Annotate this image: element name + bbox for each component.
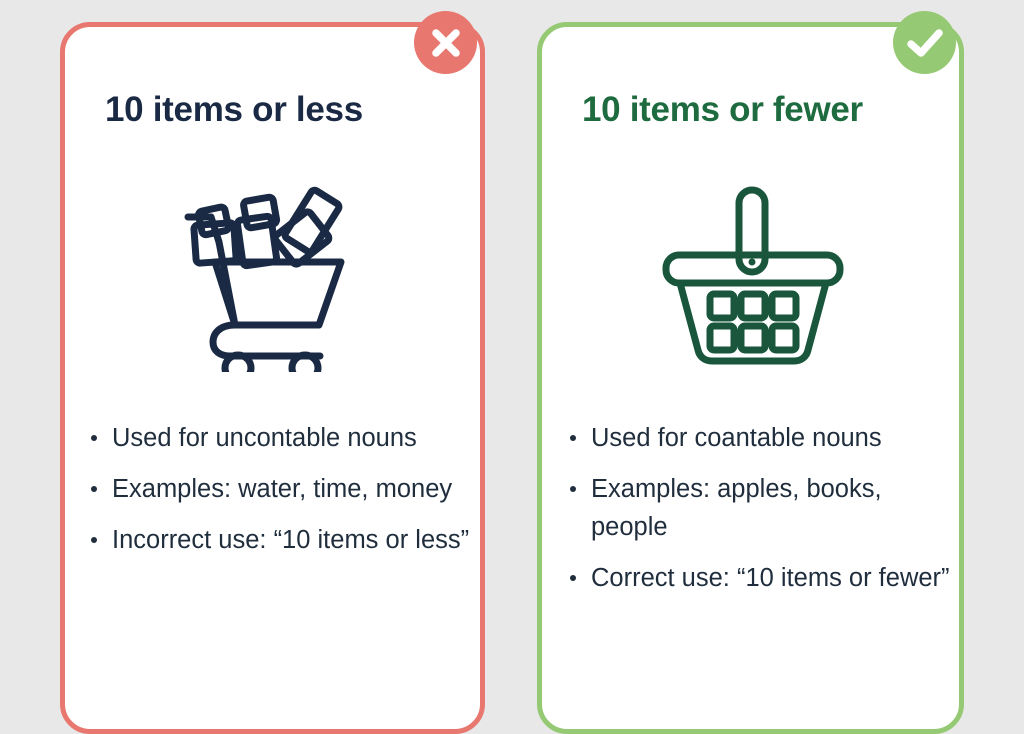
cross-icon bbox=[414, 11, 477, 74]
bullet-dot-icon bbox=[91, 486, 97, 492]
card-correct-title: 10 items or fewer bbox=[582, 90, 863, 130]
shopping-basket-icon bbox=[653, 182, 853, 372]
list-item-text: Incorrect use: “10 items or less” bbox=[112, 526, 469, 554]
shopping-cart-icon bbox=[183, 182, 363, 372]
list-item-text: Examples: water, time, money bbox=[112, 475, 452, 503]
list-item: Examples: apples, books, people bbox=[568, 470, 958, 546]
list-item: Examples: water, time, money bbox=[89, 470, 479, 508]
bullet-dot-icon bbox=[91, 435, 97, 441]
list-item: Incorrect use: “10 items or less” bbox=[89, 521, 479, 559]
list-item-text: Used for uncontable nouns bbox=[112, 424, 417, 452]
list-item: Correct use: “10 items or fewer” bbox=[568, 559, 958, 597]
card-incorrect-bullets: Used for uncontable nouns Examples: wate… bbox=[89, 419, 479, 559]
comparison-graphic: 10 items or less Used for uncontable nou… bbox=[0, 0, 1024, 702]
bullet-dot-icon bbox=[570, 575, 576, 581]
list-item-text: Used for coantable nouns bbox=[591, 424, 882, 452]
list-item: Used for uncontable nouns bbox=[89, 419, 479, 457]
list-item-text: Correct use: “10 items or fewer” bbox=[591, 564, 950, 592]
card-correct-bullets: Used for coantable nouns Examples: apple… bbox=[568, 419, 958, 597]
bullet-dot-icon bbox=[570, 435, 576, 441]
card-incorrect-title: 10 items or less bbox=[105, 90, 363, 130]
list-item-text: Examples: apples, books, people bbox=[591, 475, 882, 541]
bullet-dot-icon bbox=[91, 537, 97, 543]
list-item: Used for coantable nouns bbox=[568, 419, 958, 457]
bullet-dot-icon bbox=[570, 486, 576, 492]
check-icon bbox=[893, 11, 956, 74]
